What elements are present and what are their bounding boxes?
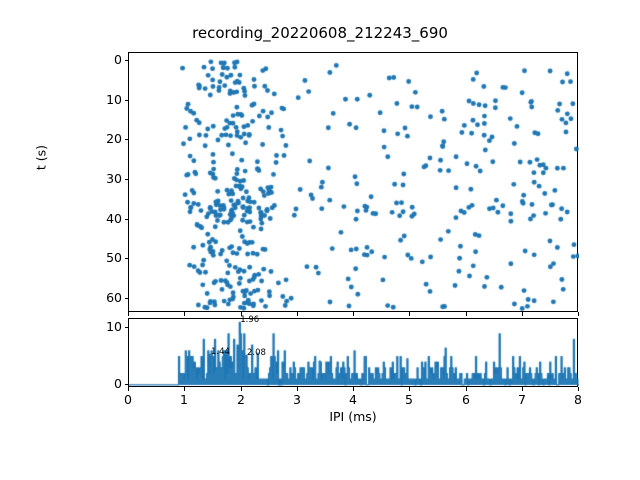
tick-mark: [125, 384, 129, 385]
tick-label: 30: [84, 171, 122, 186]
tick-label: 4: [337, 392, 369, 407]
tick-mark: [125, 258, 129, 259]
tick-label: 60: [84, 290, 122, 305]
matplotlib-figure: recording_20220608_212243_690 0102030405…: [0, 0, 640, 480]
tick-mark: [125, 100, 129, 101]
y-axis-label: t (s): [34, 113, 49, 203]
tick-mark: [522, 387, 523, 391]
tick-mark: [128, 387, 129, 391]
scatter-points-layer: [129, 53, 579, 313]
tick-label: 10: [84, 92, 122, 107]
tick-mark: [297, 387, 298, 391]
tick-mark: [125, 219, 129, 220]
peak-annotation: 2.08: [247, 348, 266, 358]
peak-annotation: 1.44: [211, 347, 230, 357]
tick-mark: [578, 312, 579, 316]
tick-mark: [184, 387, 185, 391]
tick-mark: [522, 312, 523, 316]
tick-label: 7: [506, 392, 538, 407]
tick-mark: [125, 139, 129, 140]
tick-label: 1: [168, 392, 200, 407]
tick-mark: [125, 179, 129, 180]
tick-mark: [241, 387, 242, 391]
tick-label: 8: [562, 392, 594, 407]
tick-mark: [297, 312, 298, 316]
tick-label: 5: [393, 392, 425, 407]
tick-mark: [184, 312, 185, 316]
x-axis-label: IPI (ms): [128, 409, 578, 424]
tick-mark: [128, 312, 129, 316]
tick-mark: [578, 387, 579, 391]
tick-mark: [409, 312, 410, 316]
tick-mark: [466, 387, 467, 391]
tick-mark: [125, 298, 129, 299]
tick-mark: [125, 327, 129, 328]
histogram-line-layer: [129, 319, 579, 388]
tick-mark: [353, 387, 354, 391]
tick-label: 20: [84, 131, 122, 146]
tick-mark: [125, 60, 129, 61]
tick-mark: [466, 312, 467, 316]
tick-label: 2: [225, 392, 257, 407]
figure-title: recording_20220608_212243_690: [0, 24, 640, 42]
tick-mark: [353, 312, 354, 316]
tick-mark: [409, 387, 410, 391]
tick-label: 40: [84, 211, 122, 226]
tick-label: 6: [450, 392, 482, 407]
tick-label: 0: [84, 376, 122, 391]
tick-label: 0: [84, 52, 122, 67]
peak-annotation: 1.96: [240, 315, 259, 325]
histogram-axes: [128, 318, 578, 387]
scatter-plot-axes: [128, 52, 578, 312]
tick-label: 3: [281, 392, 313, 407]
tick-label: 10: [84, 319, 122, 334]
tick-label: 0: [112, 392, 144, 407]
tick-label: 50: [84, 250, 122, 265]
